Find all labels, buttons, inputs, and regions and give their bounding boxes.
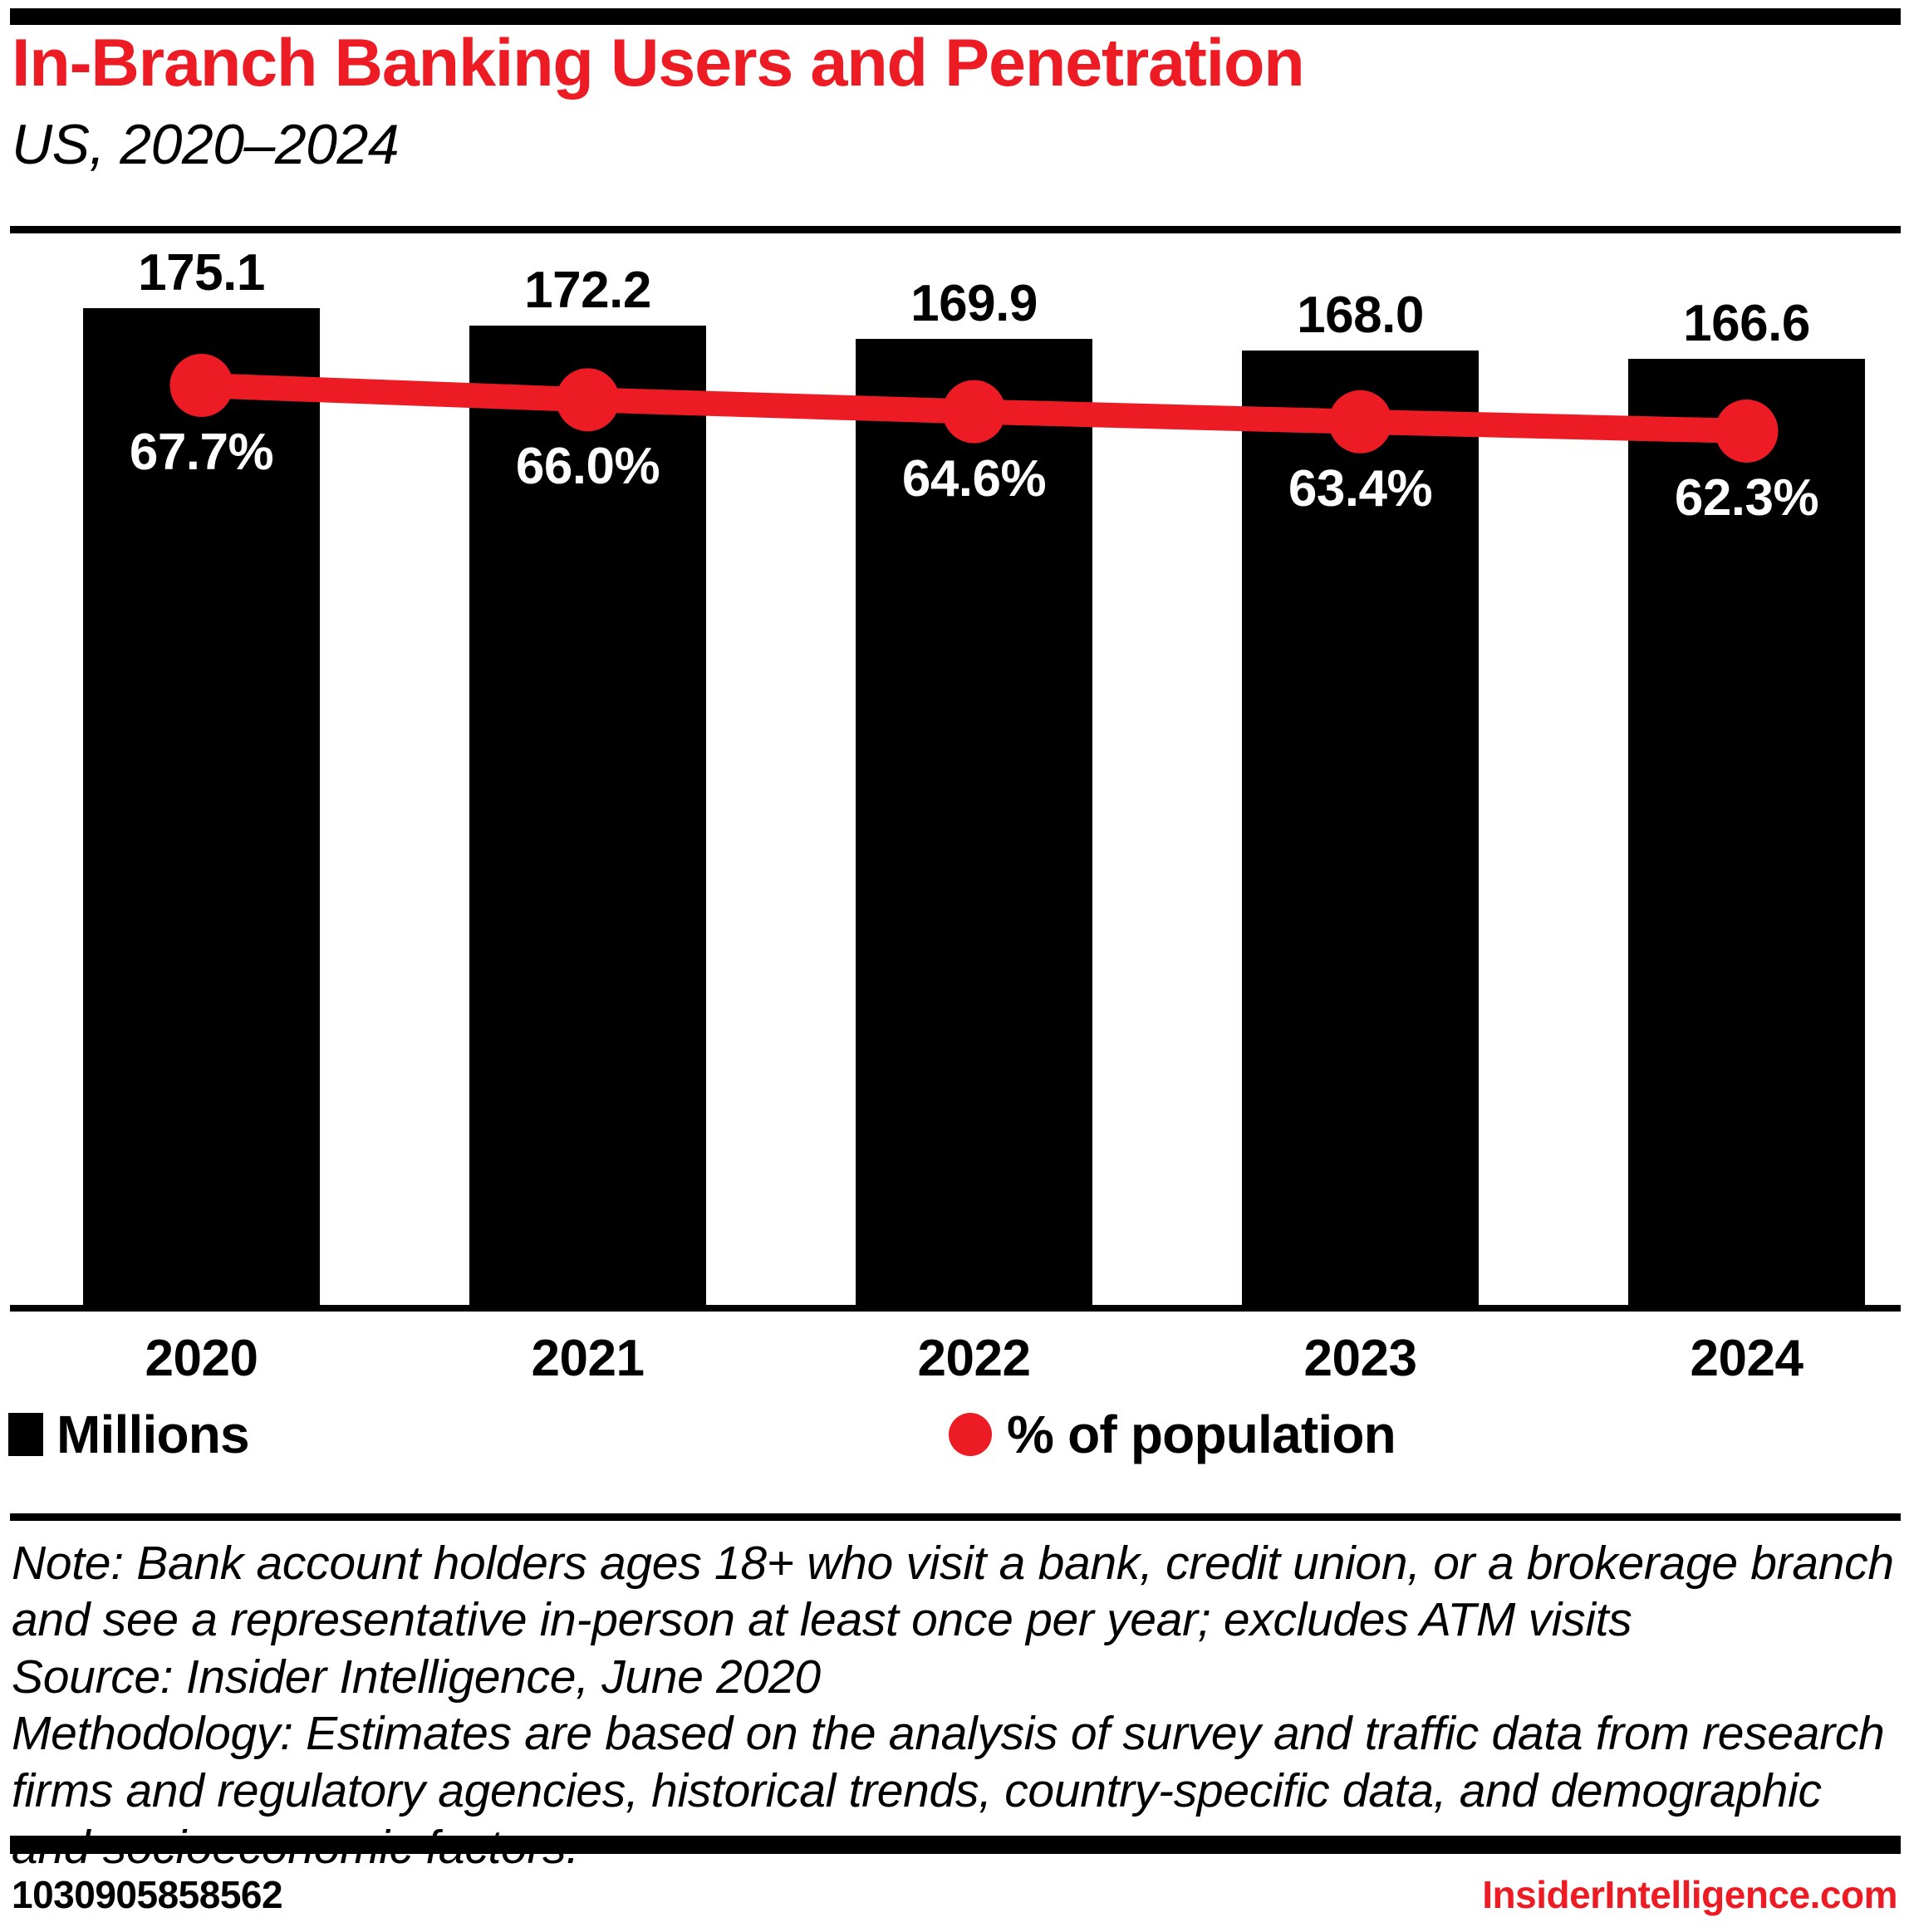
legend-item-percent-of-population[interactable]: % of population: [949, 1404, 1396, 1465]
line-value-label-2021: 66.0%: [439, 437, 738, 496]
x-axis-line: [10, 1305, 1901, 1312]
footnote-source: Source: Insider Intelligence, June 2020: [12, 1649, 1897, 1705]
title-divider: [10, 226, 1901, 233]
line-value-label-2022: 64.6%: [825, 449, 1124, 508]
bar-value-label-2024: 166.6: [1597, 294, 1897, 353]
top-rule: [10, 8, 1901, 25]
bar-value-label-2021: 172.2: [439, 261, 738, 320]
footnote-divider: [10, 1513, 1901, 1521]
line-value-label-2023: 63.4%: [1211, 459, 1510, 518]
bar-value-label-2022: 169.9: [825, 274, 1124, 333]
brand-link[interactable]: InsiderIntelligence.com: [1482, 1872, 1897, 1917]
infographic-canvas: In-Branch Banking Users and Penetration …: [0, 0, 1909, 1932]
red-circle-icon: [949, 1413, 992, 1456]
x-tick-2023: 2023: [1195, 1329, 1527, 1388]
chart-id: 1030905858562: [12, 1872, 282, 1917]
bar-value-label-2020: 175.1: [52, 243, 351, 302]
page-title: In-Branch Banking Users and Penetration: [12, 30, 1304, 97]
x-tick-2020: 2020: [36, 1329, 368, 1388]
x-tick-2024: 2024: [1581, 1329, 1909, 1388]
footnote-note: Note: Bank account holders ages 18+ who …: [12, 1535, 1897, 1649]
black-square-icon: [8, 1413, 43, 1456]
legend-label-millions: Millions: [56, 1404, 249, 1465]
legend-label-percent: % of population: [1007, 1404, 1396, 1465]
line-value-label-2020: 67.7%: [52, 423, 351, 482]
line-value-label-2024: 62.3%: [1597, 468, 1897, 527]
bottom-rule: [10, 1836, 1901, 1854]
legend-item-millions[interactable]: Millions: [8, 1404, 249, 1465]
footnotes: Note: Bank account holders ages 18+ who …: [12, 1535, 1897, 1876]
page-subtitle: US, 2020–2024: [12, 116, 399, 173]
bar-value-label-2023: 168.0: [1211, 286, 1510, 345]
x-tick-2022: 2022: [808, 1329, 1141, 1388]
x-tick-2021: 2021: [422, 1329, 754, 1388]
chart-legend: Millions % of population: [0, 1404, 1909, 1470]
